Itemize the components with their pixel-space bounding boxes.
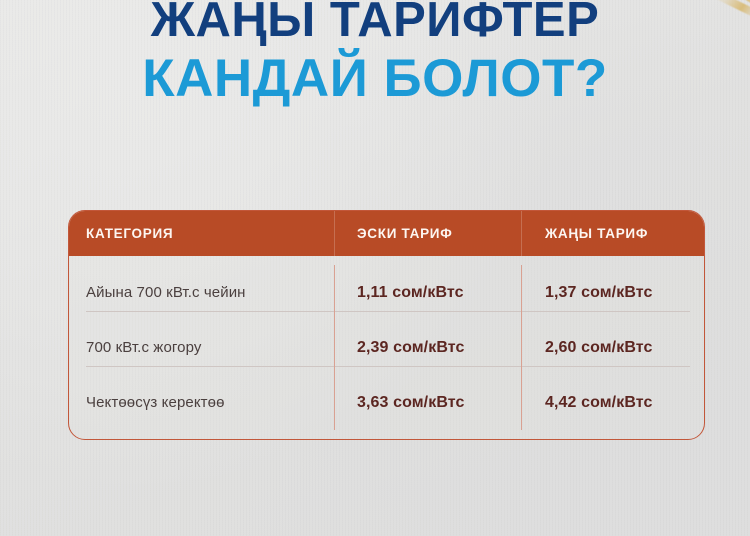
column-header-new-tariff: ЖАҢЫ ТАРИФ — [521, 211, 703, 256]
cell-old-tariff: 1,11 сом/кВтс — [334, 265, 521, 320]
tariff-table: КАТЕГОРИЯ ЭСКИ ТАРИФ ЖАҢЫ ТАРИФ Айына 70… — [68, 210, 705, 440]
page-title: ЖАҢЫ ТАРИФТЕР КАНДАЙ БОЛОТ? — [0, 0, 750, 106]
cell-old-tariff: 2,39 сом/кВтс — [334, 320, 521, 375]
table-header-row: КАТЕГОРИЯ ЭСКИ ТАРИФ ЖАҢЫ ТАРИФ — [69, 211, 704, 256]
cell-new-tariff: 2,60 сом/кВтс — [521, 320, 703, 375]
cell-new-tariff: 4,42 сом/кВтс — [521, 375, 703, 430]
table-row: 700 кВт.с жогору 2,39 сом/кВтс 2,60 сом/… — [69, 320, 704, 375]
poster-canvas: ЖАҢЫ ТАРИФТЕР КАНДАЙ БОЛОТ? КАТЕГОРИЯ ЭС… — [0, 0, 750, 536]
cell-old-tariff: 3,63 сом/кВтс — [334, 375, 521, 430]
cell-category: 700 кВт.с жогору — [69, 320, 334, 375]
column-header-category: КАТЕГОРИЯ — [69, 226, 334, 241]
title-line-secondary: КАНДАЙ БОЛОТ? — [0, 52, 750, 106]
table-row: Айына 700 кВт.с чейин 1,11 сом/кВтс 1,37… — [69, 265, 704, 320]
table-body: Айына 700 кВт.с чейин 1,11 сом/кВтс 1,37… — [69, 256, 704, 439]
cell-category: Айына 700 кВт.с чейин — [69, 265, 334, 320]
cell-new-tariff: 1,37 сом/кВтс — [521, 265, 703, 320]
cell-category: Чектөөсүз керектөө — [69, 375, 334, 430]
title-line-primary: ЖАҢЫ ТАРИФТЕР — [0, 0, 750, 46]
table-row: Чектөөсүз керектөө 3,63 сом/кВтс 4,42 со… — [69, 375, 704, 430]
column-header-old-tariff: ЭСКИ ТАРИФ — [334, 211, 521, 256]
